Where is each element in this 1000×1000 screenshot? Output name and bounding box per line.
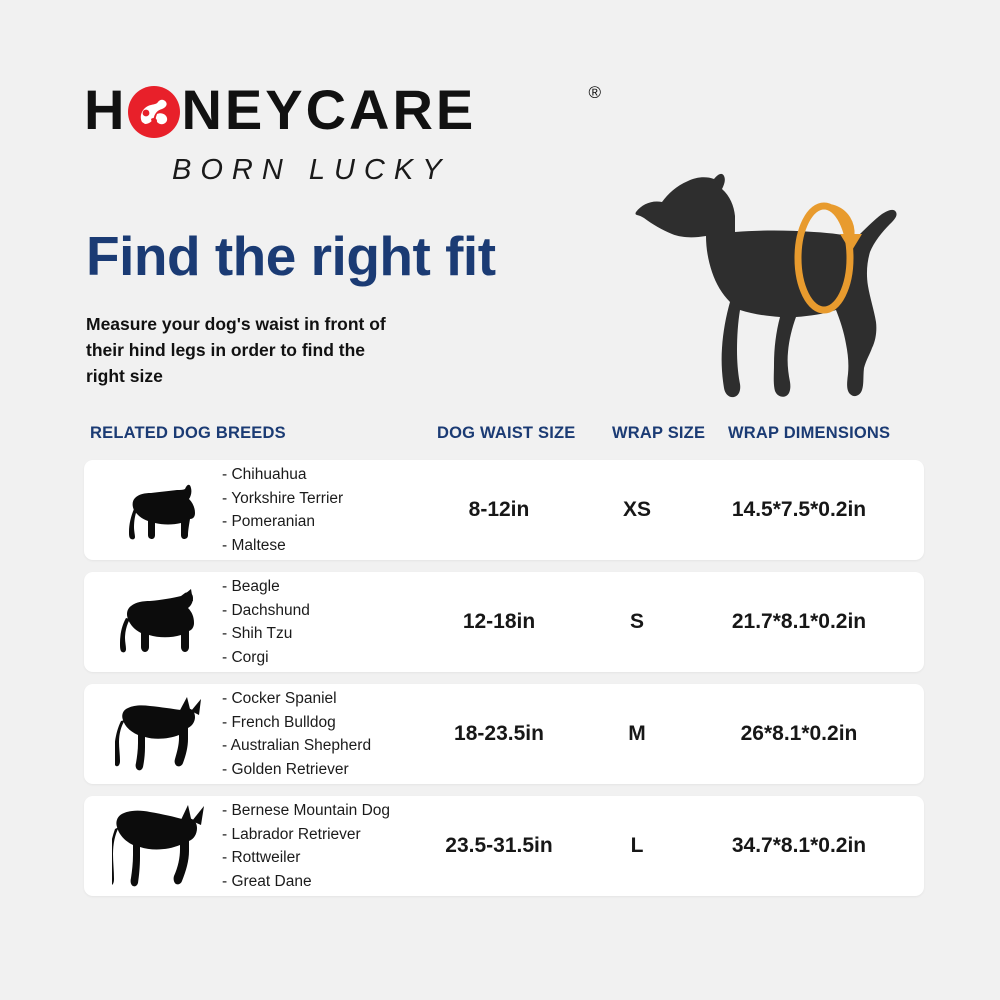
wrap-dimensions-value: 14.5*7.5*0.2in — [684, 498, 914, 522]
large-dog-glyph — [112, 803, 212, 889]
wrap-dimensions-value: 26*8.1*0.2in — [684, 722, 914, 746]
medium-dog-glyph — [115, 695, 209, 773]
table-header-row: RELATED DOG BREEDS DOG WAIST SIZE WRAP S… — [84, 424, 924, 460]
medium-dog-icon — [102, 684, 222, 784]
wrap-dimensions-value: 34.7*8.1*0.2in — [684, 834, 914, 858]
breed-list: - Chihuahua - Yorkshire Terrier - Pomera… — [222, 463, 343, 557]
medium-small-dog-glyph — [119, 587, 205, 657]
table-row: - Cocker Spaniel - French Bulldog - Aust… — [84, 684, 924, 784]
size-table: RELATED DOG BREEDS DOG WAIST SIZE WRAP S… — [84, 424, 924, 908]
wrap-size-value: L — [592, 834, 682, 858]
hero-illustration — [618, 150, 938, 412]
brand-wordmark: HNEYCARE® — [84, 82, 584, 138]
waist-size-value: 23.5-31.5in — [414, 834, 584, 858]
waist-size-value: 8-12in — [414, 498, 584, 522]
logo-paw-glyph — [133, 92, 175, 132]
small-dog-icon — [102, 460, 222, 560]
brand-logo: HNEYCARE® BORN LUCKY — [84, 82, 584, 187]
breed-list: - Beagle - Dachshund - Shih Tzu - Corgi — [222, 575, 310, 669]
brand-tagline: BORN LUCKY — [172, 154, 584, 187]
measure-instruction: Measure your dog's waist in front of the… — [86, 312, 406, 390]
table-row: - Beagle - Dachshund - Shih Tzu - Corgi … — [84, 572, 924, 672]
column-header-wrap-size: WRAP SIZE — [612, 424, 705, 443]
wrap-dimensions-value: 21.7*8.1*0.2in — [684, 610, 914, 634]
small-dog-glyph — [123, 479, 201, 541]
breed-list: - Cocker Spaniel - French Bulldog - Aust… — [222, 687, 371, 781]
dog-side-silhouette — [618, 150, 938, 412]
wrap-size-value: M — [592, 722, 682, 746]
waist-size-value: 18-23.5in — [414, 722, 584, 746]
breed-list: - Bernese Mountain Dog - Labrador Retrie… — [222, 799, 390, 893]
size-chart-page: HNEYCARE® BORN LUCKY Find the right fit … — [0, 0, 1000, 1000]
wordmark-pre: H — [84, 82, 127, 138]
column-header-waist: DOG WAIST SIZE — [437, 424, 575, 443]
column-header-wrap-dimensions: WRAP DIMENSIONS — [728, 424, 890, 443]
wrap-size-value: S — [592, 610, 682, 634]
large-dog-icon — [102, 796, 222, 896]
column-header-breeds: RELATED DOG BREEDS — [90, 424, 286, 443]
honeycare-paw-logo-icon — [128, 86, 180, 138]
page-title: Find the right fit — [86, 228, 496, 286]
table-row: - Bernese Mountain Dog - Labrador Retrie… — [84, 796, 924, 896]
wordmark-post: NEYCARE — [181, 82, 476, 138]
registered-trademark-icon: ® — [588, 84, 604, 101]
table-row: - Chihuahua - Yorkshire Terrier - Pomera… — [84, 460, 924, 560]
waist-size-value: 12-18in — [414, 610, 584, 634]
medium-small-dog-icon — [102, 572, 222, 672]
wrap-size-value: XS — [592, 498, 682, 522]
